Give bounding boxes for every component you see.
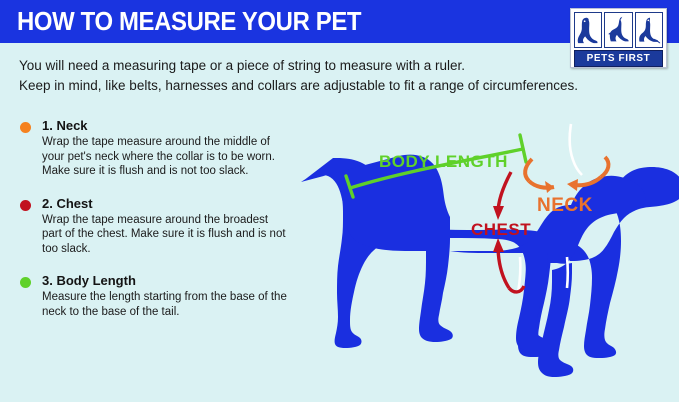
leg-separation-line-front [518,257,520,293]
step-body-body-length: Measure the length starting from the bas… [42,290,290,319]
intro-line-1: You will need a measuring tape or a piec… [19,56,579,76]
dog-ear-outline [570,124,582,175]
logo-wordmark-text: PETS FIRST [587,54,651,64]
intro-line-2: Keep in mind, like belts, harnesses and … [19,76,579,96]
brand-logo: PETS FIRST [570,8,667,68]
measurement-steps-list: 1. Neck Wrap the tape measure around the… [20,118,290,336]
infographic-page: HOW TO MEASURE YOUR PET [0,0,679,402]
standing-dog-silhouette-icon [635,12,663,48]
logo-wordmark: PETS FIRST [574,50,663,67]
begging-dog-silhouette-icon [604,12,632,48]
leg-separation-line-rear [567,257,568,288]
step-title-neck: 1. Neck [42,118,290,133]
step-title-chest: 2. Chest [42,196,290,211]
chest-label: CHEST [471,220,531,239]
step-title-body-length: 3. Body Length [42,273,290,288]
sitting-dog-silhouette-icon [574,12,602,48]
step-bullet-body-length [20,277,31,288]
logo-icon-row [574,12,663,48]
body-length-label: BODY LENGTH [379,152,508,171]
dog-measurement-diagram: BODY LENGTH NECK CHEST [295,105,679,402]
step-body-chest: Wrap the tape measure around the broades… [42,213,290,257]
step-bullet-chest [20,200,31,211]
step-body-neck: Wrap the tape measure around the middle … [42,135,290,179]
list-item: 1. Neck Wrap the tape measure around the… [20,118,290,179]
page-title: HOW TO MEASURE YOUR PET [17,7,361,36]
list-item: 2. Chest Wrap the tape measure around th… [20,196,290,257]
list-item: 3. Body Length Measure the length starti… [20,273,290,319]
intro-text: You will need a measuring tape or a piec… [19,56,579,95]
neck-label: NECK [537,195,593,216]
step-bullet-neck [20,122,31,133]
